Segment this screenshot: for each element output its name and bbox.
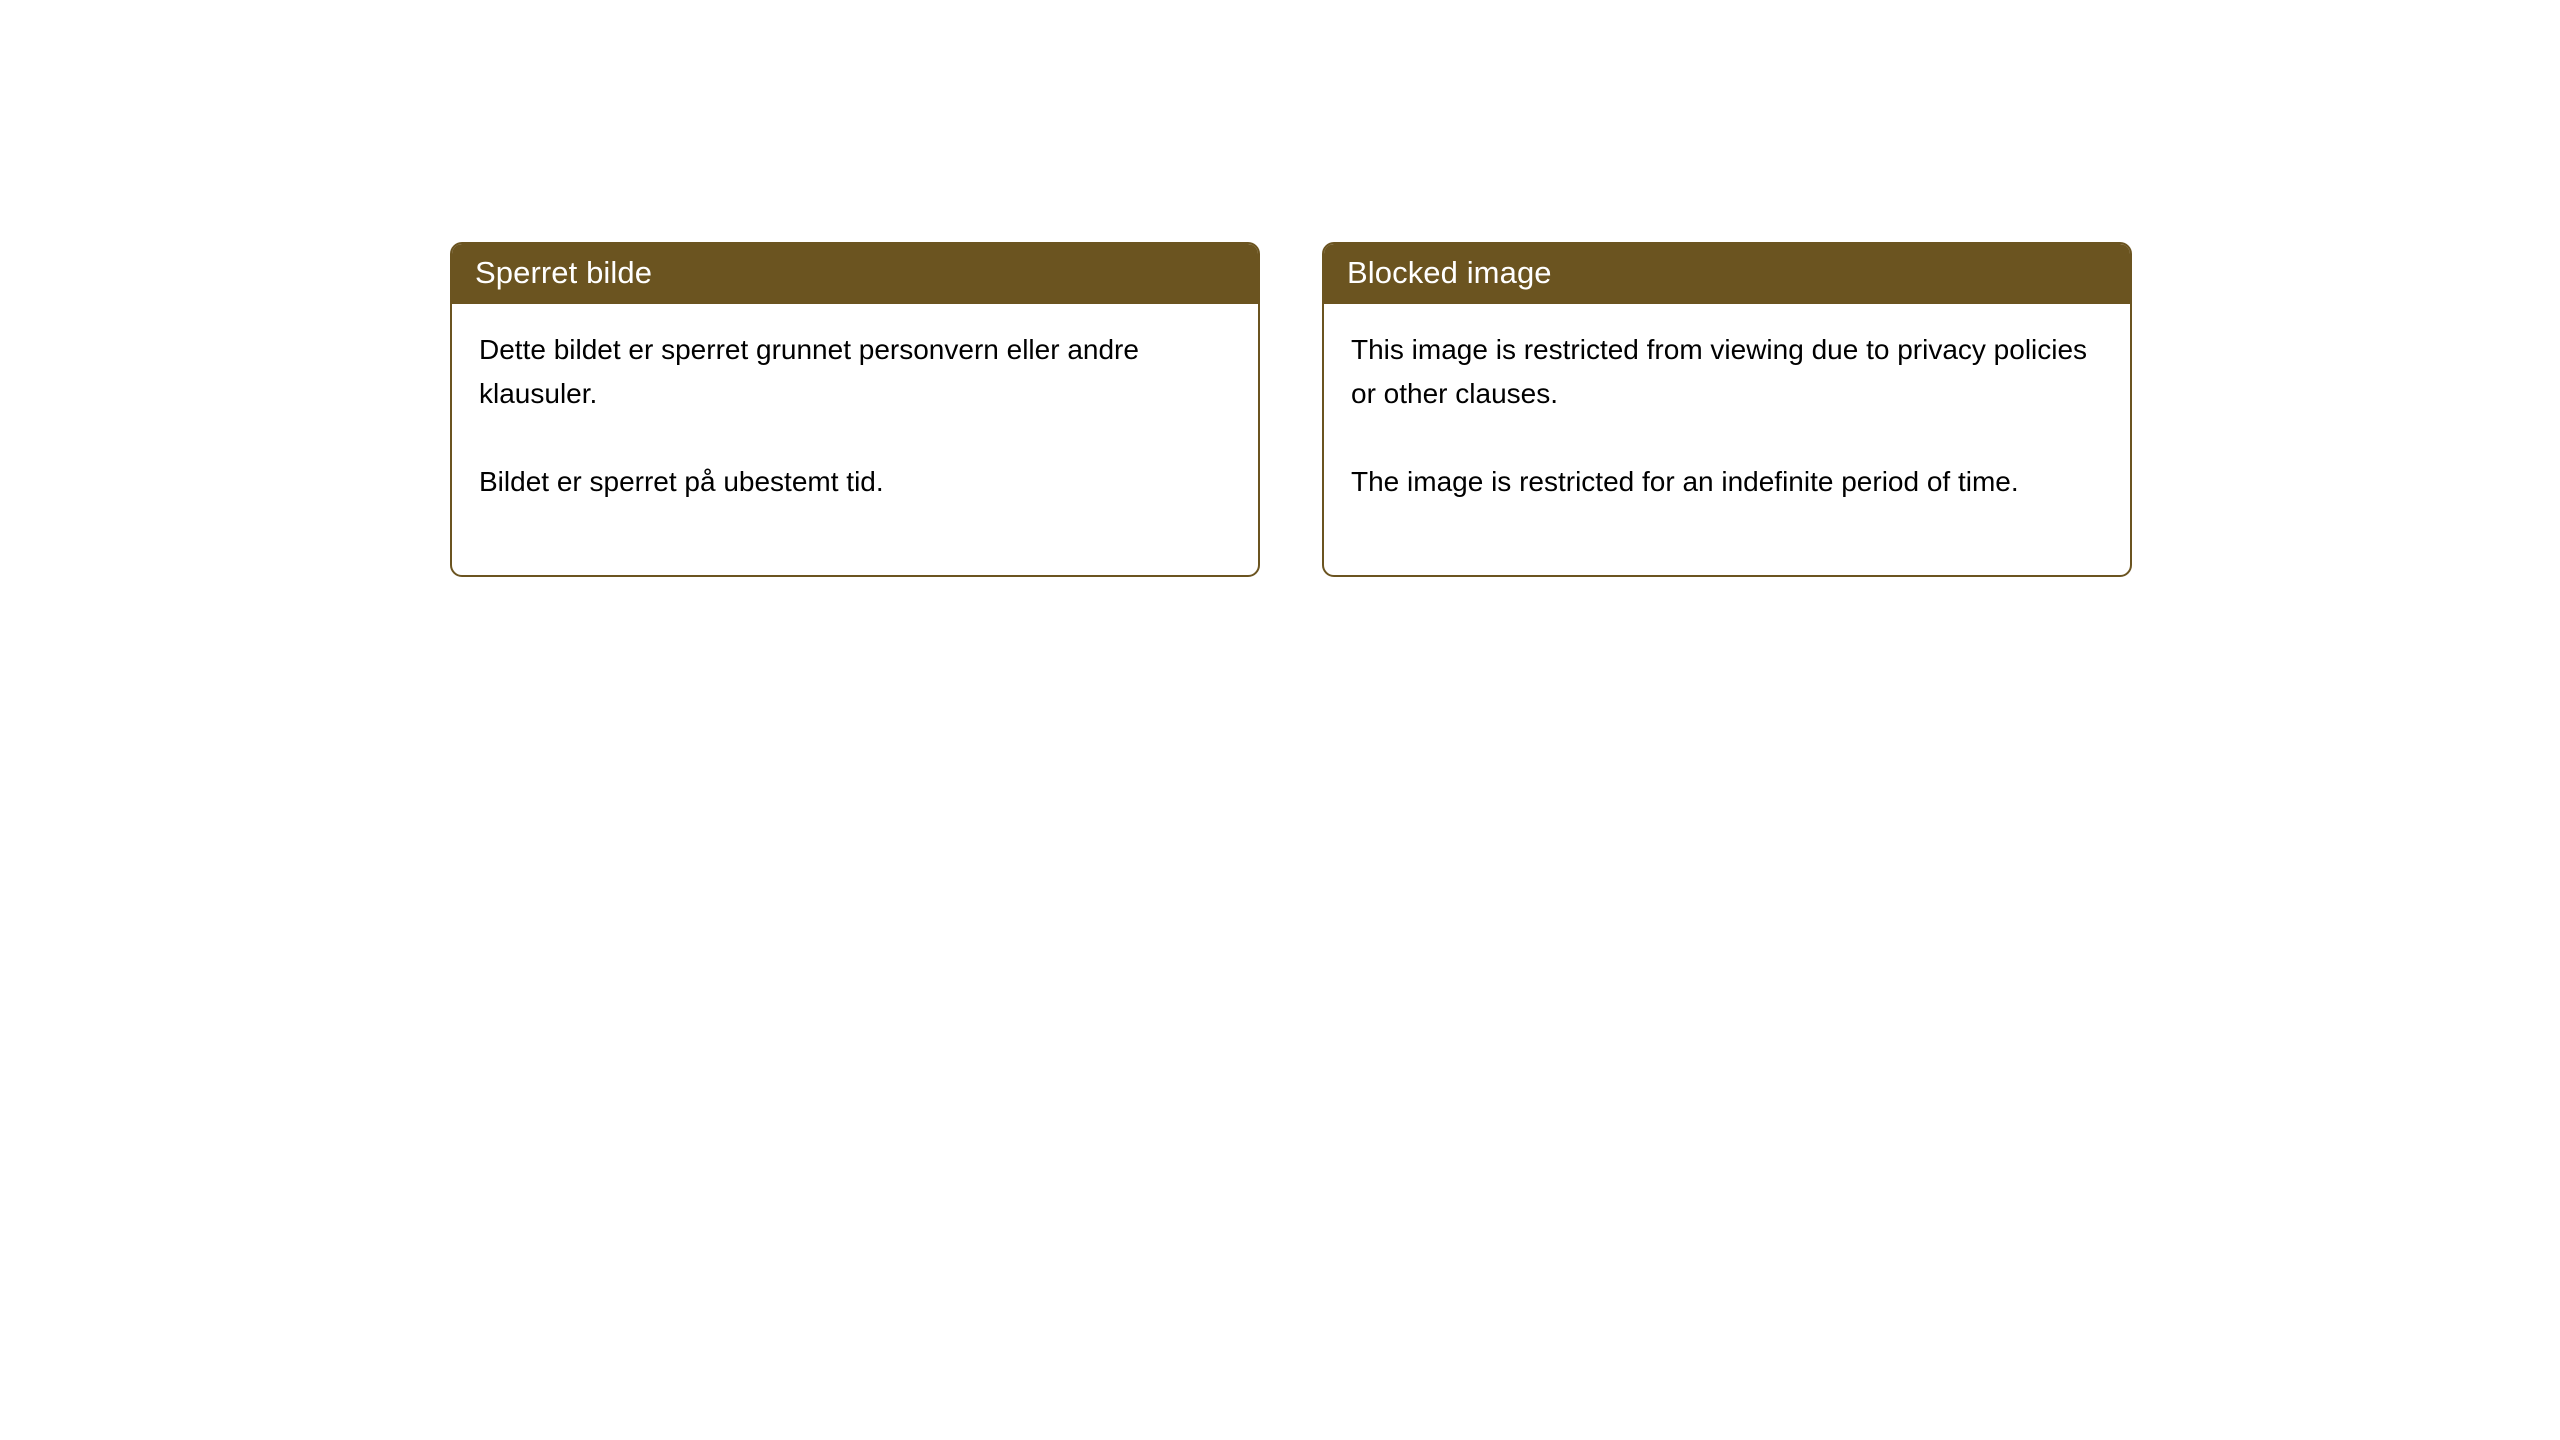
card-header-norwegian: Sperret bilde [450, 242, 1260, 304]
card-body-english: This image is restricted from viewing du… [1324, 304, 2130, 504]
page-root: Sperret bilde Dette bildet er sperret gr… [0, 0, 2560, 1440]
card-paragraph-secondary-norwegian: Bildet er sperret på ubestemt tid. [479, 460, 1224, 504]
card-title-norwegian: Sperret bilde [475, 255, 652, 291]
card-paragraph-secondary-english: The image is restricted for an indefinit… [1351, 460, 2096, 504]
blocked-image-notice-card-norwegian: Sperret bilde Dette bildet er sperret gr… [450, 242, 1260, 577]
card-body-norwegian: Dette bildet er sperret grunnet personve… [452, 304, 1258, 504]
card-title-english: Blocked image [1347, 255, 1552, 291]
card-header-english: Blocked image [1322, 242, 2132, 304]
card-paragraph-primary-norwegian: Dette bildet er sperret grunnet personve… [479, 328, 1224, 416]
blocked-image-notice-card-english: Blocked image This image is restricted f… [1322, 242, 2132, 577]
card-paragraph-primary-english: This image is restricted from viewing du… [1351, 328, 2096, 416]
